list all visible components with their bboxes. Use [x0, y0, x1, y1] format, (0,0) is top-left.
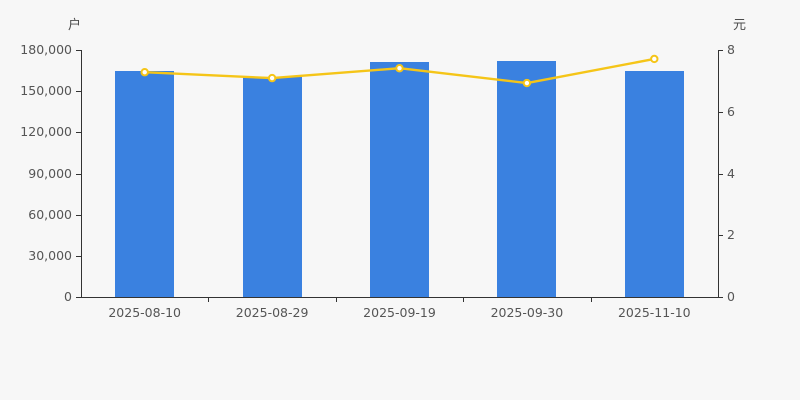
right-tick-label: 0 — [727, 291, 735, 304]
left-tick-label: 30,000 — [28, 250, 72, 263]
right-tick-label: 8 — [727, 44, 735, 57]
x-tick-mark — [463, 297, 464, 302]
left-tick-label: 120,000 — [20, 126, 72, 139]
left-tick-mark — [76, 174, 81, 175]
x-tick-label: 2025-09-19 — [363, 305, 436, 320]
right-tick-label: 4 — [727, 167, 735, 180]
right-tick-mark — [718, 112, 723, 113]
x-axis-line — [81, 297, 719, 298]
right-axis-unit-label: 元 — [733, 14, 746, 33]
left-tick-mark — [76, 215, 81, 216]
right-tick-mark — [718, 235, 723, 236]
bar[interactable] — [243, 77, 302, 297]
chart-container: 户 元 030,00060,00090,000120,000150,000180… — [0, 0, 800, 400]
left-tick-mark — [76, 297, 81, 298]
x-tick-label: 2025-11-10 — [618, 305, 691, 320]
left-tick-mark — [76, 256, 81, 257]
right-tick-mark — [718, 50, 723, 51]
left-tick-mark — [76, 50, 81, 51]
line-marker[interactable] — [651, 56, 657, 62]
bar[interactable] — [625, 71, 684, 297]
left-axis-line — [81, 50, 82, 297]
left-axis-unit-label: 户 — [68, 14, 81, 33]
right-tick-mark — [718, 297, 723, 298]
bar[interactable] — [115, 71, 174, 297]
bar[interactable] — [370, 62, 429, 297]
right-tick-mark — [718, 174, 723, 175]
bar[interactable] — [497, 61, 556, 297]
left-tick-label: 60,000 — [28, 208, 72, 221]
right-tick-label: 2 — [727, 229, 735, 242]
x-tick-mark — [336, 297, 337, 302]
x-tick-label: 2025-09-30 — [491, 305, 564, 320]
x-tick-label: 2025-08-29 — [236, 305, 309, 320]
x-tick-label: 2025-08-10 — [108, 305, 181, 320]
left-tick-label: 0 — [64, 291, 72, 304]
left-tick-label: 90,000 — [28, 167, 72, 180]
left-tick-label: 180,000 — [20, 44, 72, 57]
left-tick-mark — [76, 132, 81, 133]
x-tick-mark — [208, 297, 209, 302]
left-tick-label: 150,000 — [20, 85, 72, 98]
x-tick-mark — [591, 297, 592, 302]
right-tick-label: 6 — [727, 106, 735, 119]
left-tick-mark — [76, 91, 81, 92]
